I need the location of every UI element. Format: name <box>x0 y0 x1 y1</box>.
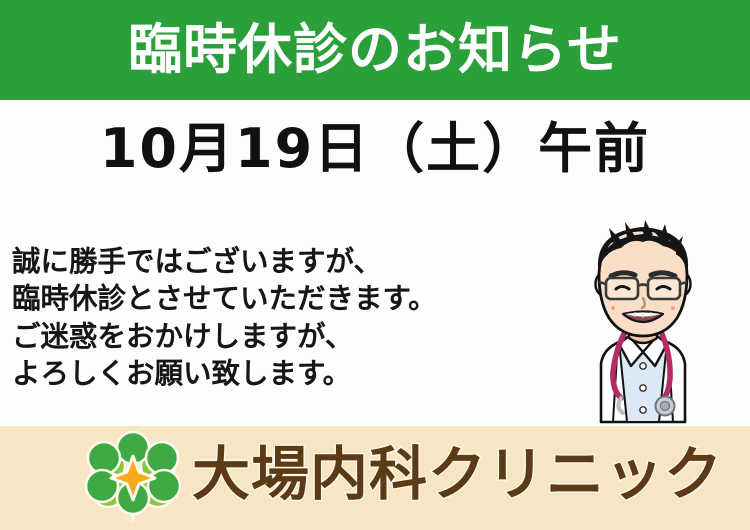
notice-body-line-1: 誠に勝手ではございますが、 <box>12 243 552 280</box>
tree-logo-icon <box>78 428 188 528</box>
notice-body-line-3: ご迷惑をおかけしますが、 <box>12 318 552 355</box>
header-banner: 臨時休診のお知らせ <box>0 0 750 100</box>
footer-banner: 大場内科クリニック <box>0 426 750 530</box>
clinic-notice-poster: 臨時休診のお知らせ 10月19日（土）午前 誠に勝手ではございますが、 臨時休診… <box>0 0 750 530</box>
clinic-name: 大場内科クリニック <box>192 440 723 510</box>
notice-body-line-2: 臨時休診とさせていただきます。 <box>12 280 552 317</box>
doctor-illustration <box>543 216 743 426</box>
closure-date-line: 10月19日（土）午前 <box>0 118 750 180</box>
page-title: 臨時休診のお知らせ <box>128 23 622 77</box>
notice-body-line-4: よろしくお願い致します。 <box>12 355 552 392</box>
notice-body: 誠に勝手ではございますが、 臨時休診とさせていただきます。 ご迷惑をおかけします… <box>12 243 552 392</box>
